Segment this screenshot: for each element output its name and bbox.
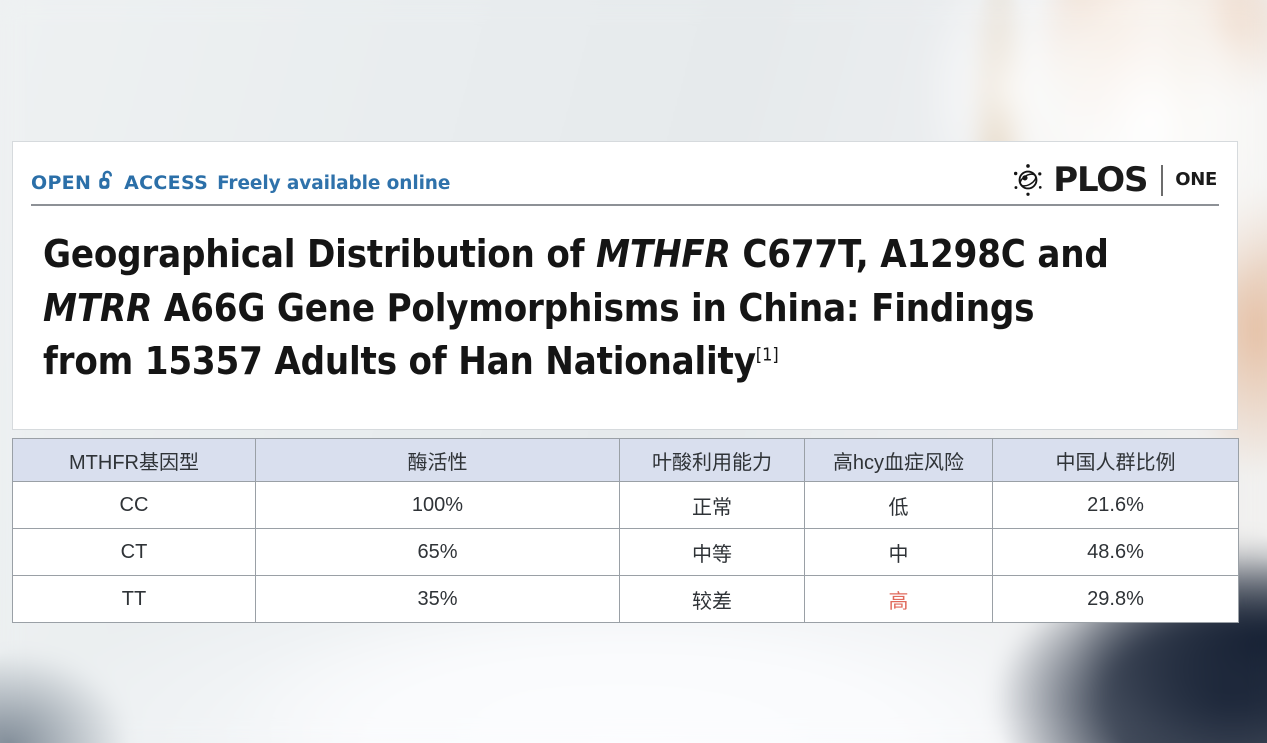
column-header-genotype: MTHFR基因型: [13, 439, 256, 482]
column-header-enzyme-activity: 酶活性: [256, 439, 620, 482]
cell-population-frequency: 48.6%: [993, 529, 1239, 576]
cell-enzyme-activity: 35%: [256, 576, 620, 623]
logo-divider: [1161, 165, 1163, 196]
table-row: TT 35% 较差 高 29.8%: [13, 576, 1239, 623]
title-line2-suffix: A66G Gene Polymorphisms in China: Findin…: [152, 286, 1034, 330]
open-padlock-icon: [96, 169, 119, 192]
cell-genotype: CC: [13, 482, 256, 529]
open-access-open-label: OPEN: [31, 172, 91, 194]
title-line1-suffix: C677T, A1298C and: [731, 232, 1109, 276]
table-row: CC 100% 正常 低 21.6%: [13, 482, 1239, 529]
open-access-tagline: Freely available online: [217, 173, 450, 194]
table-row: CT 65% 中等 中 48.6%: [13, 529, 1239, 576]
banner-divider-rule: [31, 204, 1219, 206]
plos-atom-icon: [1010, 162, 1046, 198]
cell-enzyme-activity: 100%: [256, 482, 620, 529]
open-access-access-label: ACCESS: [124, 172, 208, 194]
title-line1-prefix: Geographical Distribution of: [43, 232, 596, 276]
column-header-folate-utilization: 叶酸利用能力: [620, 439, 805, 482]
article-header-card: OPEN ACCESS Freely available online: [12, 141, 1238, 430]
title-line3: from 15357 Adults of Han Nationality: [43, 339, 756, 383]
cell-hcy-risk-highlighted: 高: [805, 576, 993, 623]
plos-edition-label: ONE: [1175, 171, 1217, 189]
cell-genotype: CT: [13, 529, 256, 576]
column-header-population-frequency: 中国人群比例: [993, 439, 1239, 482]
cell-genotype: TT: [13, 576, 256, 623]
cell-hcy-risk: 低: [805, 482, 993, 529]
page-title: Geographical Distribution of MTHFR C677T…: [31, 228, 1219, 389]
cell-population-frequency: 21.6%: [993, 482, 1239, 529]
cell-folate-utilization: 较差: [620, 576, 805, 623]
cell-population-frequency: 29.8%: [993, 576, 1239, 623]
plos-wordmark: PLOS: [1053, 163, 1147, 197]
cell-folate-utilization: 正常: [620, 482, 805, 529]
cell-folate-utilization: 中等: [620, 529, 805, 576]
title-reference-marker: [1]: [756, 345, 779, 366]
journal-banner: OPEN ACCESS Freely available online: [31, 162, 1219, 198]
table-header-row: MTHFR基因型 酶活性 叶酸利用能力 高hcy血症风险 中国人群比例: [13, 439, 1239, 482]
slide-content: OPEN ACCESS Freely available online: [12, 141, 1238, 628]
title-gene-mthfr: MTHFR: [596, 232, 731, 276]
mthfr-genotype-table: MTHFR基因型 酶活性 叶酸利用能力 高hcy血症风险 中国人群比例 CC 1…: [12, 438, 1239, 623]
title-gene-mtrr: MTRR: [43, 286, 152, 330]
cell-hcy-risk: 中: [805, 529, 993, 576]
plos-one-logo: PLOS ONE: [1010, 162, 1219, 198]
open-access-badge: OPEN ACCESS Freely available online: [31, 166, 450, 194]
cell-enzyme-activity: 65%: [256, 529, 620, 576]
column-header-hcy-risk: 高hcy血症风险: [805, 439, 993, 482]
